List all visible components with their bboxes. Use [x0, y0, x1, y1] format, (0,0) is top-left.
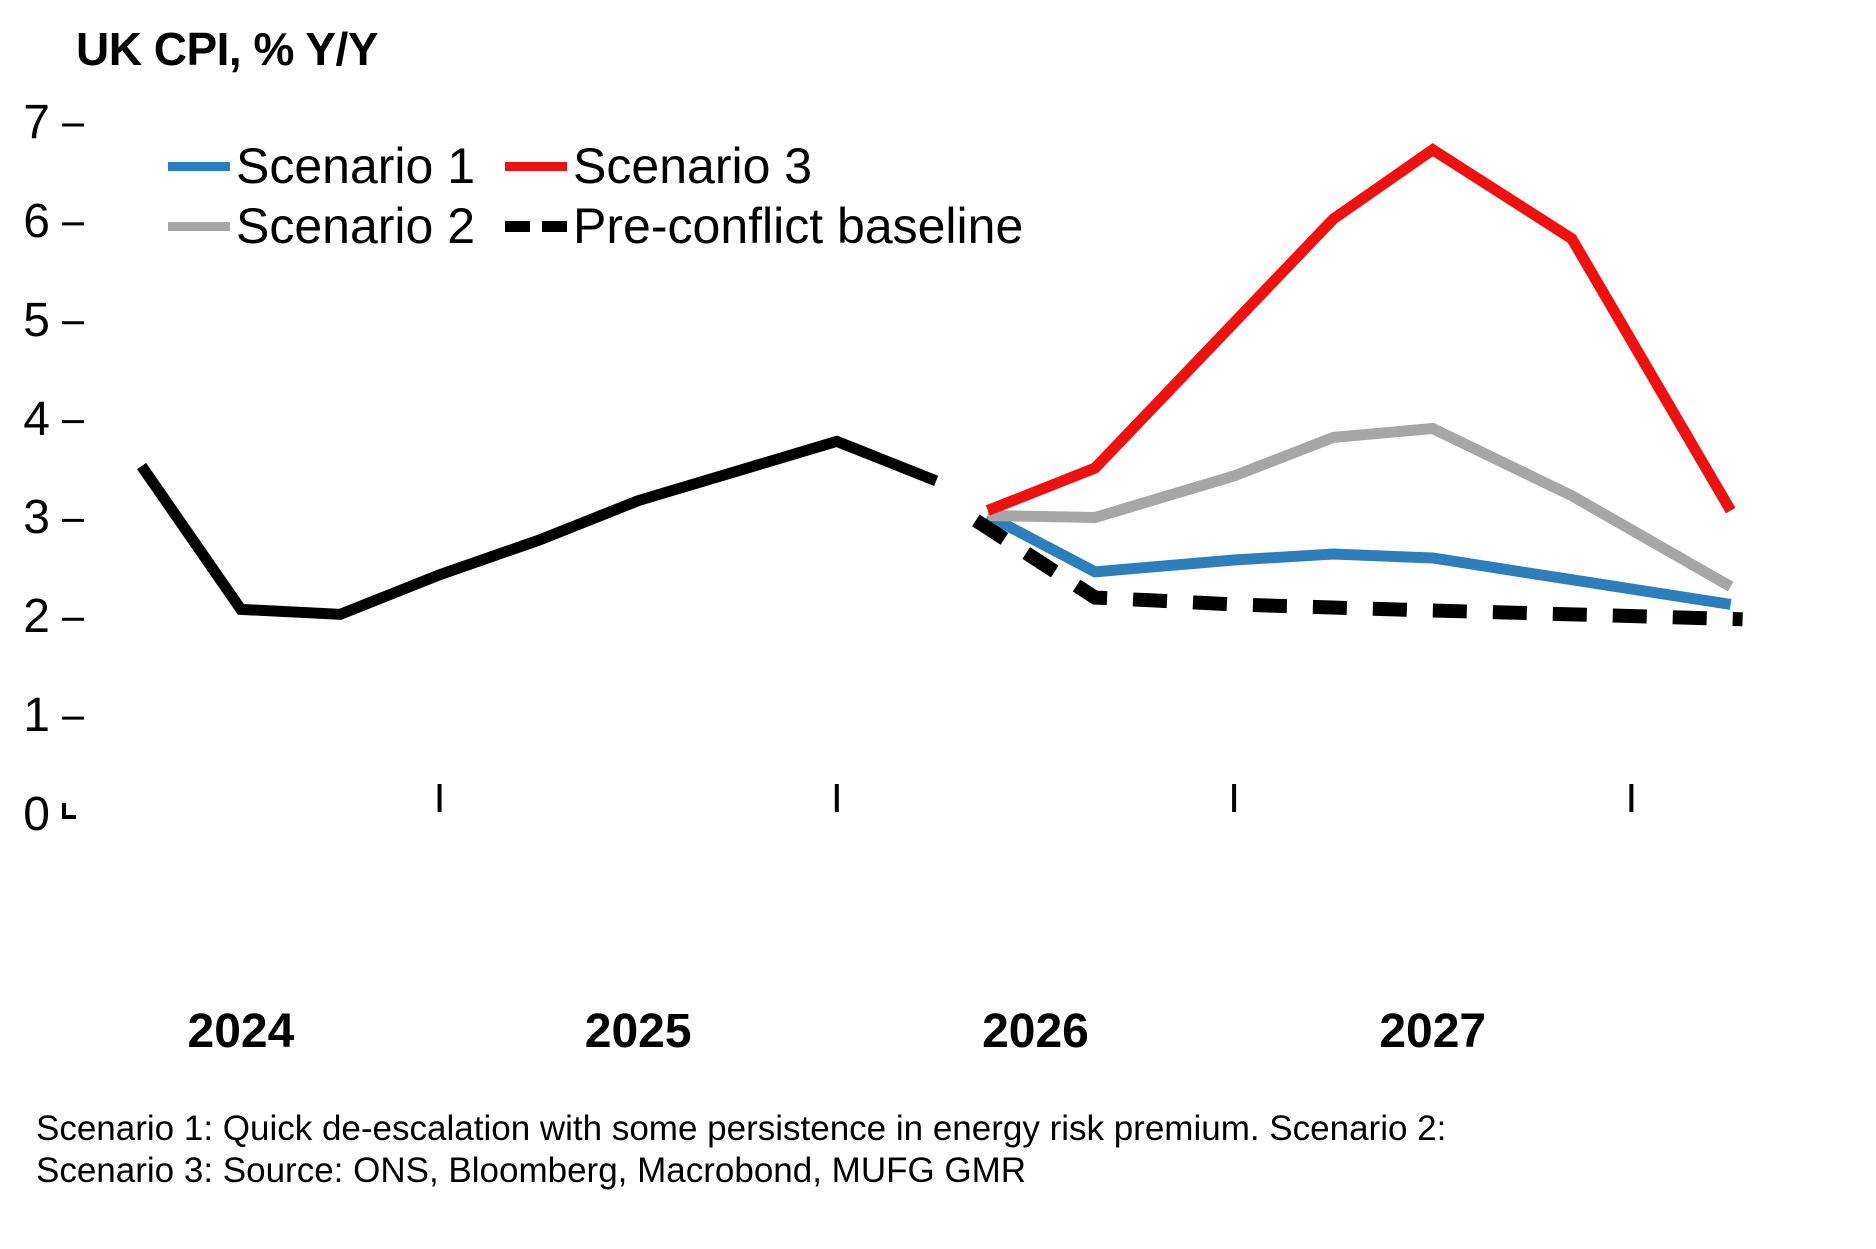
chart-root: UK CPI, % Y/Y 01234567 2024202520262027 …: [0, 0, 1876, 1249]
legend-label-scenario-2: Scenario 2: [236, 200, 475, 252]
x-tick-label: 2026: [925, 1008, 1145, 1056]
legend-swatch-scenario-3-icon: [505, 162, 567, 171]
y-tick-label: 1: [0, 692, 50, 740]
y-tick-label: 4: [0, 396, 50, 444]
legend-item-scenario-3[interactable]: Scenario 3: [505, 140, 812, 192]
footnote-line-2: Scenario 3: Source: ONS, Bloomberg, Macr…: [36, 1150, 1866, 1192]
legend-item-scenario-2[interactable]: Scenario 2: [168, 200, 475, 252]
legend-swatch-scenario-2-icon: [168, 222, 230, 231]
legend-label-scenario-1: Scenario 1: [236, 140, 475, 192]
legend-row-1: Scenario 1 Scenario 3: [168, 140, 1023, 192]
legend-label-pre-conflict-baseline: Pre-conflict baseline: [573, 200, 1023, 252]
legend-item-pre-conflict-baseline[interactable]: Pre-conflict baseline: [505, 200, 1023, 252]
series-line-scenario-3: [988, 150, 1731, 511]
chart-footnote: Scenario 1: Quick de-escalation with som…: [36, 1108, 1866, 1192]
legend-item-scenario-1[interactable]: Scenario 1: [168, 140, 475, 192]
series-line-history: [142, 441, 937, 614]
chart-legend: Scenario 1 Scenario 3 Scenario 2 Pre-con…: [168, 140, 1023, 252]
legend-row-2: Scenario 2 Pre-conflict baseline: [168, 200, 1023, 252]
legend-swatch-scenario-1-icon: [168, 162, 230, 171]
series-line-scenario-2: [988, 428, 1731, 586]
y-tick-label: 0: [0, 791, 50, 839]
legend-label-scenario-3: Scenario 3: [573, 140, 812, 192]
y-tick-label: 7: [0, 99, 50, 147]
y-tick-label: 5: [0, 297, 50, 345]
x-tick-label: 2025: [528, 1008, 748, 1056]
x-tick-label: 2027: [1323, 1008, 1543, 1056]
y-tick-label: 6: [0, 198, 50, 246]
y-tick-label: 2: [0, 593, 50, 641]
x-tick-label: 2024: [131, 1008, 351, 1056]
footnote-line-1: Scenario 1: Quick de-escalation with som…: [36, 1108, 1866, 1150]
legend-swatch-pre-conflict-baseline-icon: [505, 221, 567, 232]
y-tick-label: 3: [0, 494, 50, 542]
